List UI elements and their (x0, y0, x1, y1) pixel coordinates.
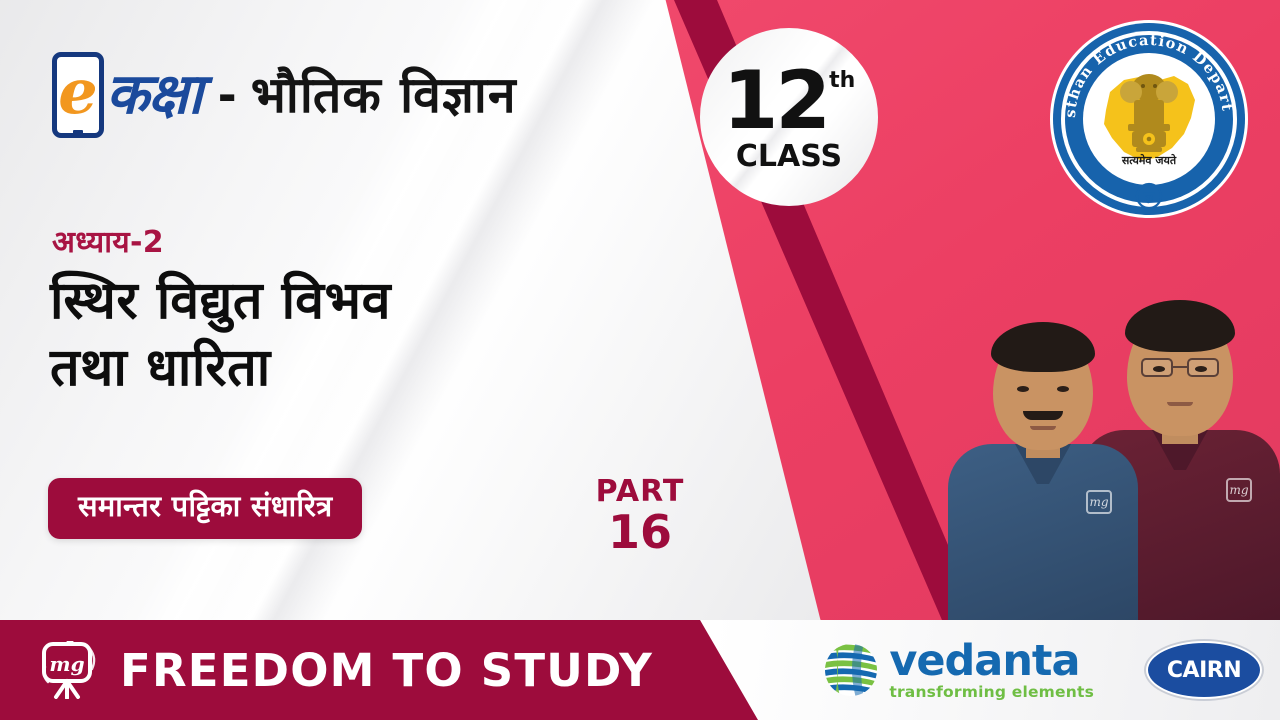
instructor-left-mouth (1030, 426, 1056, 430)
title-line-1: स्थिर विद्युत विभव (50, 268, 690, 335)
instructor-left-mustache (1023, 411, 1063, 420)
mg-easel-icon: mg (38, 641, 100, 699)
topic-badge: समान्तर पट्टिका संधारित्र (48, 478, 362, 539)
class-badge: 12 th CLASS (700, 28, 878, 206)
instructor-left-mg-logo: mg (1086, 490, 1112, 514)
class-word: CLASS (736, 139, 842, 174)
instructor-right-eye-left (1153, 366, 1165, 372)
cairn-logo: CAIRN (1146, 641, 1262, 699)
smartphone-icon: e (52, 52, 104, 138)
title-line-2: तथा धारिता (50, 335, 690, 402)
instructor-right-mouth (1167, 402, 1193, 406)
chapter-label: अध्याय-2 (52, 220, 164, 261)
part-number: 16 (588, 508, 692, 556)
class-superscript: th (829, 70, 855, 92)
mg-logo-text: mg (49, 652, 84, 676)
brand-separator: - (218, 72, 237, 118)
brand-letter-e: e (58, 61, 97, 123)
part-label: PART (588, 476, 692, 508)
brand-logo: e कक्षा - भौतिक विज्ञान (52, 52, 517, 138)
rajasthan-education-department-emblem: सत्यमेव जयते Rajasthan Education Departm… (1048, 18, 1250, 220)
page-title: स्थिर विद्युत विभव तथा धारिता (50, 268, 690, 401)
vedanta-globe-icon (823, 642, 879, 698)
emblem-svg: सत्यमेव जयते Rajasthan Education Departm… (1048, 18, 1250, 220)
vedanta-logo: vedanta transforming elements (823, 640, 1094, 701)
instructor-left-hair (991, 322, 1095, 372)
cairn-name: CAIRN (1167, 658, 1241, 683)
slide-canvas: e कक्षा - भौतिक विज्ञान 12 th CLASS (0, 0, 1280, 720)
sponsor-logos: vedanta transforming elements CAIRN (762, 620, 1262, 720)
instructor-right-mg-logo: mg (1226, 478, 1252, 502)
brand-subject-text: भौतिक विज्ञान (251, 70, 517, 120)
emblem-bottom-symbol: ज्ञ (1143, 188, 1155, 206)
class-number: 12 (723, 66, 828, 136)
freedom-to-study-banner: mg FREEDOM TO STUDY (0, 620, 758, 720)
class-number-row: 12 th (723, 66, 856, 136)
banner-tagline: FREEDOM TO STUDY (120, 648, 653, 693)
vedanta-name: vedanta (889, 640, 1094, 683)
vedanta-wordmark: vedanta transforming elements (889, 640, 1094, 701)
instructor-photos: mg mg (930, 248, 1280, 620)
instructor-photo-left: mg (948, 298, 1138, 620)
instructor-left-shirt: mg (948, 444, 1138, 620)
instructor-left-eye-left (1017, 386, 1029, 392)
instructor-right-hair (1125, 300, 1235, 352)
part-indicator: PART 16 (588, 476, 692, 556)
instructor-right-eye-right (1195, 366, 1207, 372)
instructor-left-eye-right (1057, 386, 1069, 392)
brand-kaksha-text: कक्षा (106, 67, 202, 123)
emblem-motto: सत्यमेव जयते (1121, 153, 1177, 167)
vedanta-tagline: transforming elements (889, 685, 1094, 701)
mg-easel-svg: mg (38, 641, 100, 699)
